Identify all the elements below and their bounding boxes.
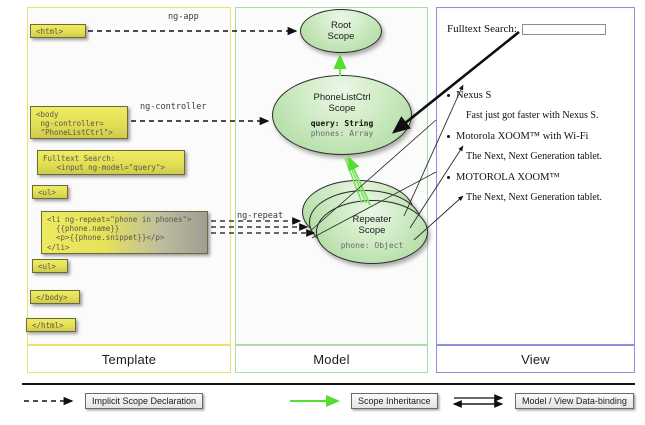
column-label-template: Template: [27, 345, 231, 373]
ng-controller-edge-label: ng-controller: [140, 102, 207, 112]
fulltext-search-row: Fulltext Search:: [447, 23, 606, 35]
root-scope-node: Root Scope: [300, 9, 382, 53]
phonelistctrl-scope-title-line2: Scope: [329, 103, 356, 114]
legend-scope-inheritance: Scope Inheritance: [288, 392, 438, 410]
bullet-icon: [447, 94, 450, 97]
repeater-scope-title-line2: Scope: [359, 225, 386, 236]
fulltext-search-markup-box: Fulltext Search: <input ng-model="query"…: [37, 150, 185, 175]
green-arrow-icon: [288, 392, 346, 410]
phone-name: Motorola XOOM™ with Wi-Fi: [456, 130, 628, 144]
phonelistctrl-scope-title-line1: PhoneListCtrl: [313, 92, 370, 103]
list-item: Motorola XOOM™ with Wi-Fi The Next, Next…: [456, 130, 628, 164]
repeater-scope-title-line1: Repeater: [352, 214, 391, 225]
phone-name: Nexus S: [456, 89, 628, 103]
legend-implicit-scope-declaration: Implicit Scope Declaration: [22, 392, 203, 410]
phone-snippet: Fast just got faster with Nexus S.: [466, 109, 628, 123]
legend-divider: [22, 383, 635, 385]
root-scope-title-line2: Scope: [328, 31, 355, 42]
phonelistctrl-prop-phones: phones: Array: [311, 129, 374, 139]
ul-close-tag-box: <ul>: [32, 259, 68, 273]
column-label-model: Model: [235, 345, 428, 373]
column-label-view: View: [436, 345, 635, 373]
list-item: MOTOROLA XOOM™ The Next, Next Generation…: [456, 171, 628, 205]
html-close-tag-box: </html>: [26, 318, 76, 332]
legend-label-model-view-data-binding: Model / View Data-binding: [515, 393, 634, 409]
li-ng-repeat-markup-box: <li ng-repeat="phone in phones"> {{phone…: [41, 211, 208, 254]
bullet-icon: [447, 135, 450, 138]
model-column: [235, 7, 428, 345]
dashed-arrow-icon: [22, 392, 80, 410]
repeater-prop-phone: phone: Object: [341, 241, 404, 251]
angularjs-concepts-diagram: <html> <body ng-controller= "PhoneListCt…: [0, 0, 645, 425]
phone-list: Nexus S Fast just got faster with Nexus …: [456, 89, 628, 212]
phone-snippet: The Next, Next Generation tablet.: [466, 191, 628, 205]
body-close-tag-box: </body>: [30, 290, 80, 304]
fulltext-search-label: Fulltext Search:: [447, 23, 517, 35]
root-scope-title-line1: Root: [331, 20, 351, 31]
ul-open-tag-box: <ul>: [32, 185, 68, 199]
legend-model-view-data-binding: Model / View Data-binding: [452, 392, 634, 410]
phonelistctrl-scope-node: PhoneListCtrl Scope query: String phones…: [272, 75, 412, 155]
ng-app-edge-label: ng-app: [168, 12, 199, 22]
view-rendered-output: Fulltext Search: Nexus S Fast just got f…: [440, 11, 631, 341]
phone-name: MOTOROLA XOOM™: [456, 171, 628, 185]
body-open-tag-box: <body ng-controller= "PhoneListCtrl">: [30, 106, 128, 139]
legend-label-scope-inheritance: Scope Inheritance: [351, 393, 438, 409]
ng-repeat-edge-label: ng-repeat: [237, 211, 283, 221]
phonelistctrl-prop-query: query: String: [311, 119, 374, 129]
bullet-icon: [447, 176, 450, 179]
phone-snippet: The Next, Next Generation tablet.: [466, 150, 628, 164]
double-arrow-icon: [452, 392, 510, 410]
list-item: Nexus S Fast just got faster with Nexus …: [456, 89, 628, 123]
fulltext-search-input[interactable]: [522, 24, 606, 35]
repeater-scope-node: Repeater Scope phone: Object: [316, 200, 428, 264]
legend-label-implicit-scope-declaration: Implicit Scope Declaration: [85, 393, 203, 409]
html-open-tag-box: <html>: [30, 24, 86, 38]
